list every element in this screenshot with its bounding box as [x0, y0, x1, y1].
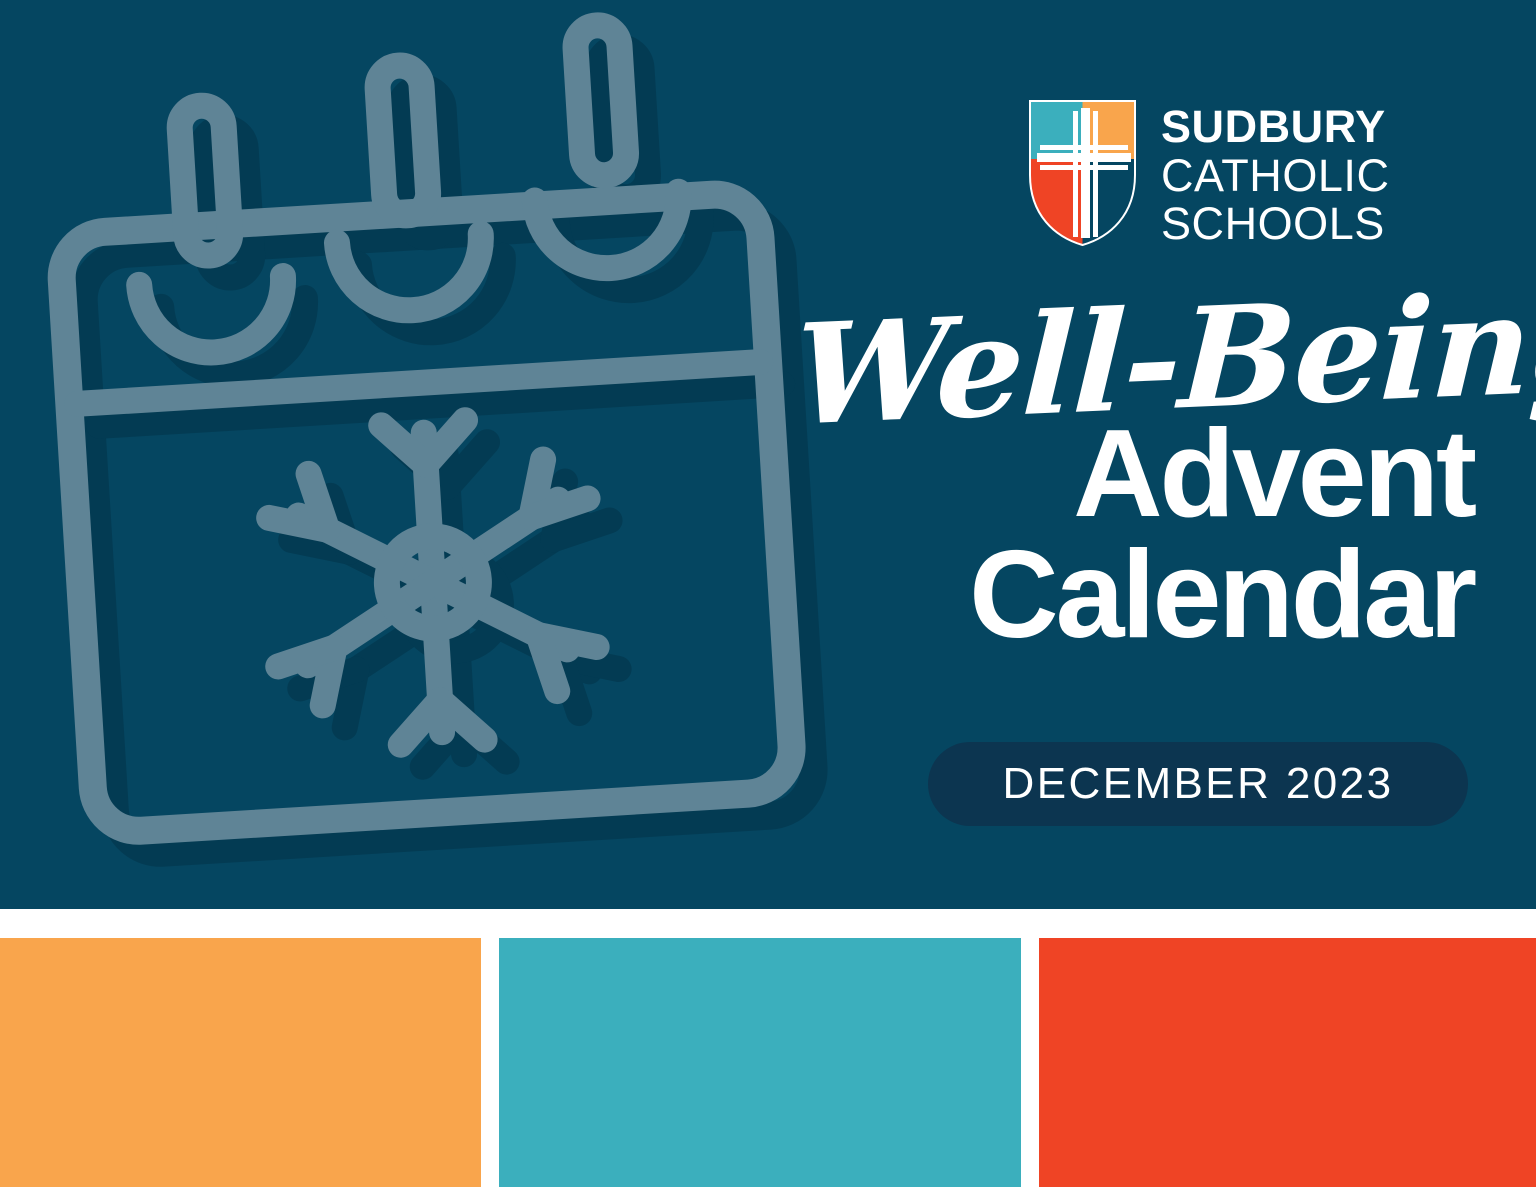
headline-block: Well-Being Advent Calendar: [794, 286, 1474, 658]
sudbury-catholic-schools-logo: SUDBURY CATHOLIC SCHOOLS: [1026, 93, 1486, 253]
logo-wordmark-line-2: CATHOLIC: [1161, 152, 1390, 201]
swatch-red: [1039, 938, 1536, 1187]
advent-calendar-poster: SUDBURY CATHOLIC SCHOOLS Well-Being Adve…: [0, 0, 1536, 1187]
color-swatch-bar: [0, 938, 1536, 1187]
logo-wordmark-line-1: SUDBURY: [1161, 103, 1390, 152]
swatch-teal: [499, 938, 1020, 1187]
hero-panel: SUDBURY CATHOLIC SCHOOLS Well-Being Adve…: [0, 0, 1536, 909]
script-title: Well-Being: [792, 286, 1477, 436]
shield-cross-icon: [1026, 97, 1139, 249]
date-badge: DECEMBER 2023: [928, 742, 1468, 826]
logo-wordmark-line-3: SCHOOLS: [1161, 200, 1390, 249]
date-badge-label: DECEMBER 2023: [1003, 762, 1394, 806]
swatch-orange: [0, 938, 481, 1187]
wall-calendar-with-snowflake-icon: [58, 52, 858, 842]
title-line-calendar: Calendar: [794, 532, 1474, 658]
logo-wordmark: SUDBURY CATHOLIC SCHOOLS: [1161, 97, 1390, 249]
